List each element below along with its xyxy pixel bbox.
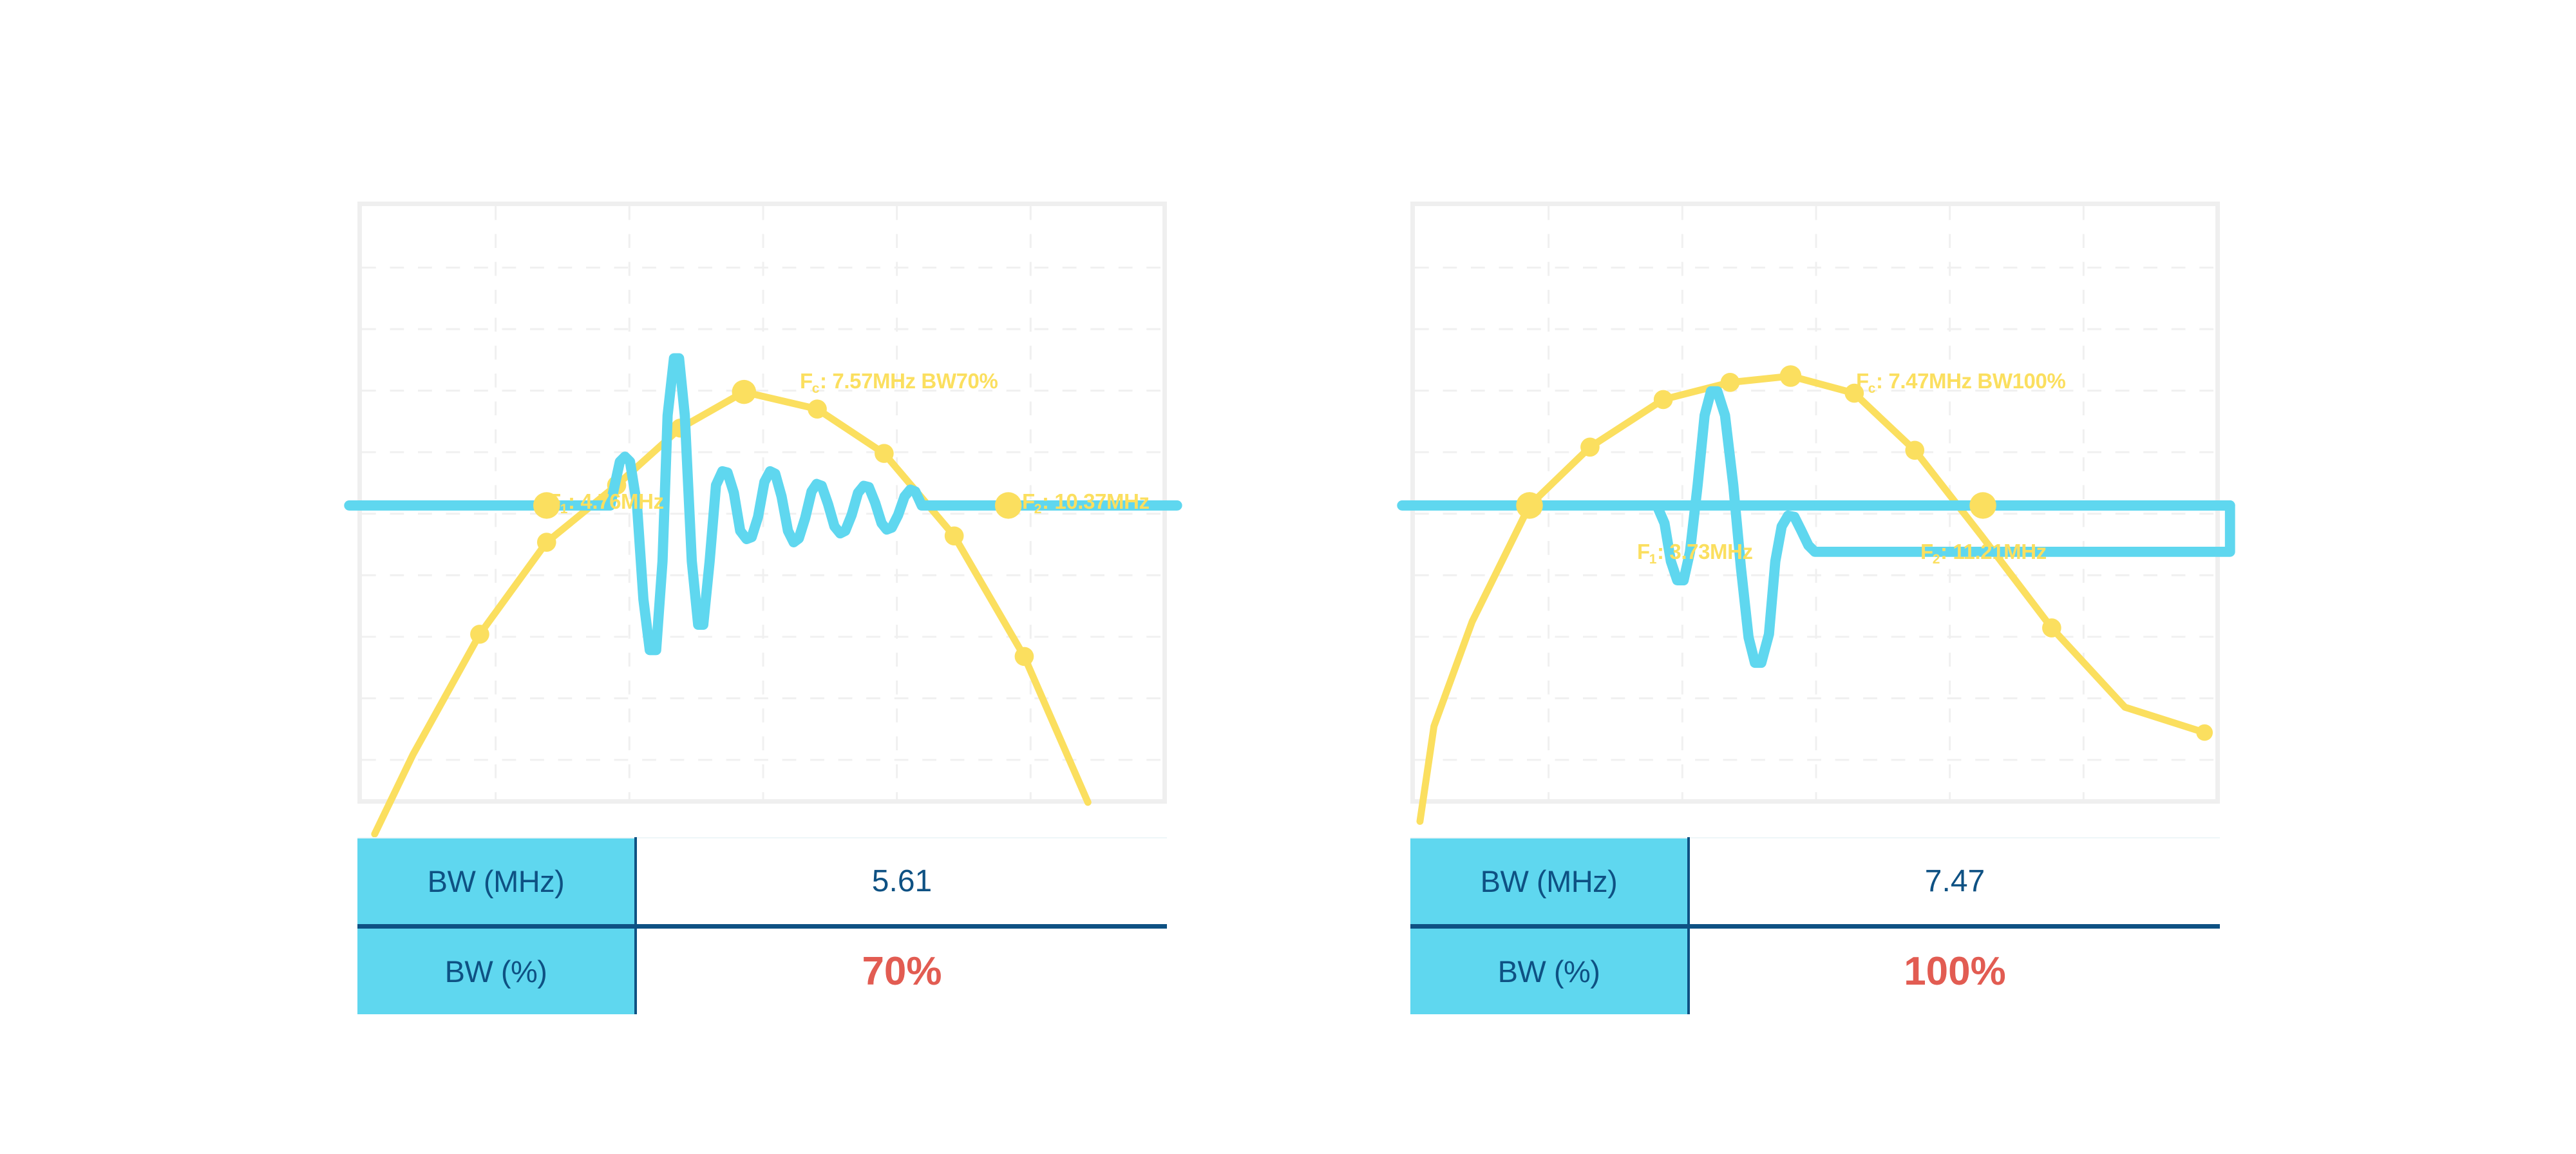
fc-annotation-right: Fc: 7.47MHz BW100% — [1856, 369, 2065, 393]
table-row: BW (%) 100% — [1410, 926, 2220, 1014]
f2-suffix: : 10.37MHz — [1042, 489, 1150, 513]
fc-subscript: c — [812, 381, 819, 396]
spectrum-curve — [1420, 376, 2204, 821]
f1-subscript: 1 — [1649, 552, 1656, 567]
f2-annotation-right: F2: 11.21MHz — [1920, 540, 2047, 564]
panel-bw100: Fc: 7.47MHz BW100% F1: 3.73MHz F2: 11.21… — [1233, 0, 2328, 1154]
row-value-bw-mhz: 7.47 — [1689, 838, 2220, 926]
f1-annotation-right: F1: 3.73MHz — [1637, 540, 1753, 564]
f2-subscript: 2 — [1933, 552, 1940, 567]
fc-prefix: F — [1856, 369, 1869, 393]
plot-frame-left: Fc: 7.57MHz BW70% F1: 4.76MHz F2: 10.37M… — [357, 202, 1167, 804]
results-table-left: BW (MHz) 5.61 BW (%) 70% — [357, 837, 1167, 1014]
fc-prefix: F — [800, 369, 813, 393]
f2-subscript: 2 — [1034, 502, 1041, 516]
f1-prefix: F — [1637, 540, 1650, 563]
row-label-bw-mhz: BW (MHz) — [357, 838, 636, 926]
f2-prefix: F — [1920, 540, 1933, 563]
fc-suffix: : 7.57MHz BW70% — [820, 369, 998, 393]
f2-annotation-left: F2: 10.37MHz — [1022, 489, 1150, 514]
f2-marker — [995, 492, 1022, 518]
f1-suffix: : 4.76MHz — [568, 489, 664, 513]
table-row: BW (MHz) 7.47 — [1410, 838, 2220, 926]
f1-suffix: : 3.73MHz — [1657, 540, 1753, 563]
f1-prefix: F — [548, 489, 561, 513]
table-row: BW (%) 70% — [357, 926, 1167, 1014]
f2-suffix: : 11.21MHz — [1940, 540, 2047, 563]
results-table-right: BW (MHz) 7.47 BW (%) 100% — [1410, 837, 2220, 1014]
f2-marker — [1969, 492, 1996, 518]
fc-annotation-left: Fc: 7.57MHz BW70% — [800, 369, 998, 393]
fc-suffix: : 7.47MHz BW100% — [1876, 369, 2065, 393]
comparison-figure: Fc: 7.57MHz BW70% F1: 4.76MHz F2: 10.37M… — [0, 0, 2576, 1154]
spectrum-curve — [375, 392, 1088, 835]
row-label-bw-pct: BW (%) — [357, 926, 636, 1014]
plot-frame-right: Fc: 7.47MHz BW100% F1: 3.73MHz F2: 11.21… — [1410, 202, 2220, 804]
row-value-bw-pct: 100% — [1689, 926, 2220, 1014]
panel-bw70: Fc: 7.57MHz BW70% F1: 4.76MHz F2: 10.37M… — [180, 0, 1275, 1154]
table-row: BW (MHz) 5.61 — [357, 838, 1167, 926]
f1-subscript: 1 — [560, 502, 567, 516]
f2-prefix: F — [1022, 489, 1035, 513]
row-value-bw-mhz: 5.61 — [636, 838, 1167, 926]
fc-subscript: c — [1868, 381, 1875, 396]
row-label-bw-pct: BW (%) — [1410, 926, 1689, 1014]
row-value-bw-pct: 70% — [636, 926, 1167, 1014]
f1-annotation-left: F1: 4.76MHz — [548, 489, 664, 514]
spectrum-plot-right — [1415, 206, 2215, 799]
row-label-bw-mhz: BW (MHz) — [1410, 838, 1689, 926]
